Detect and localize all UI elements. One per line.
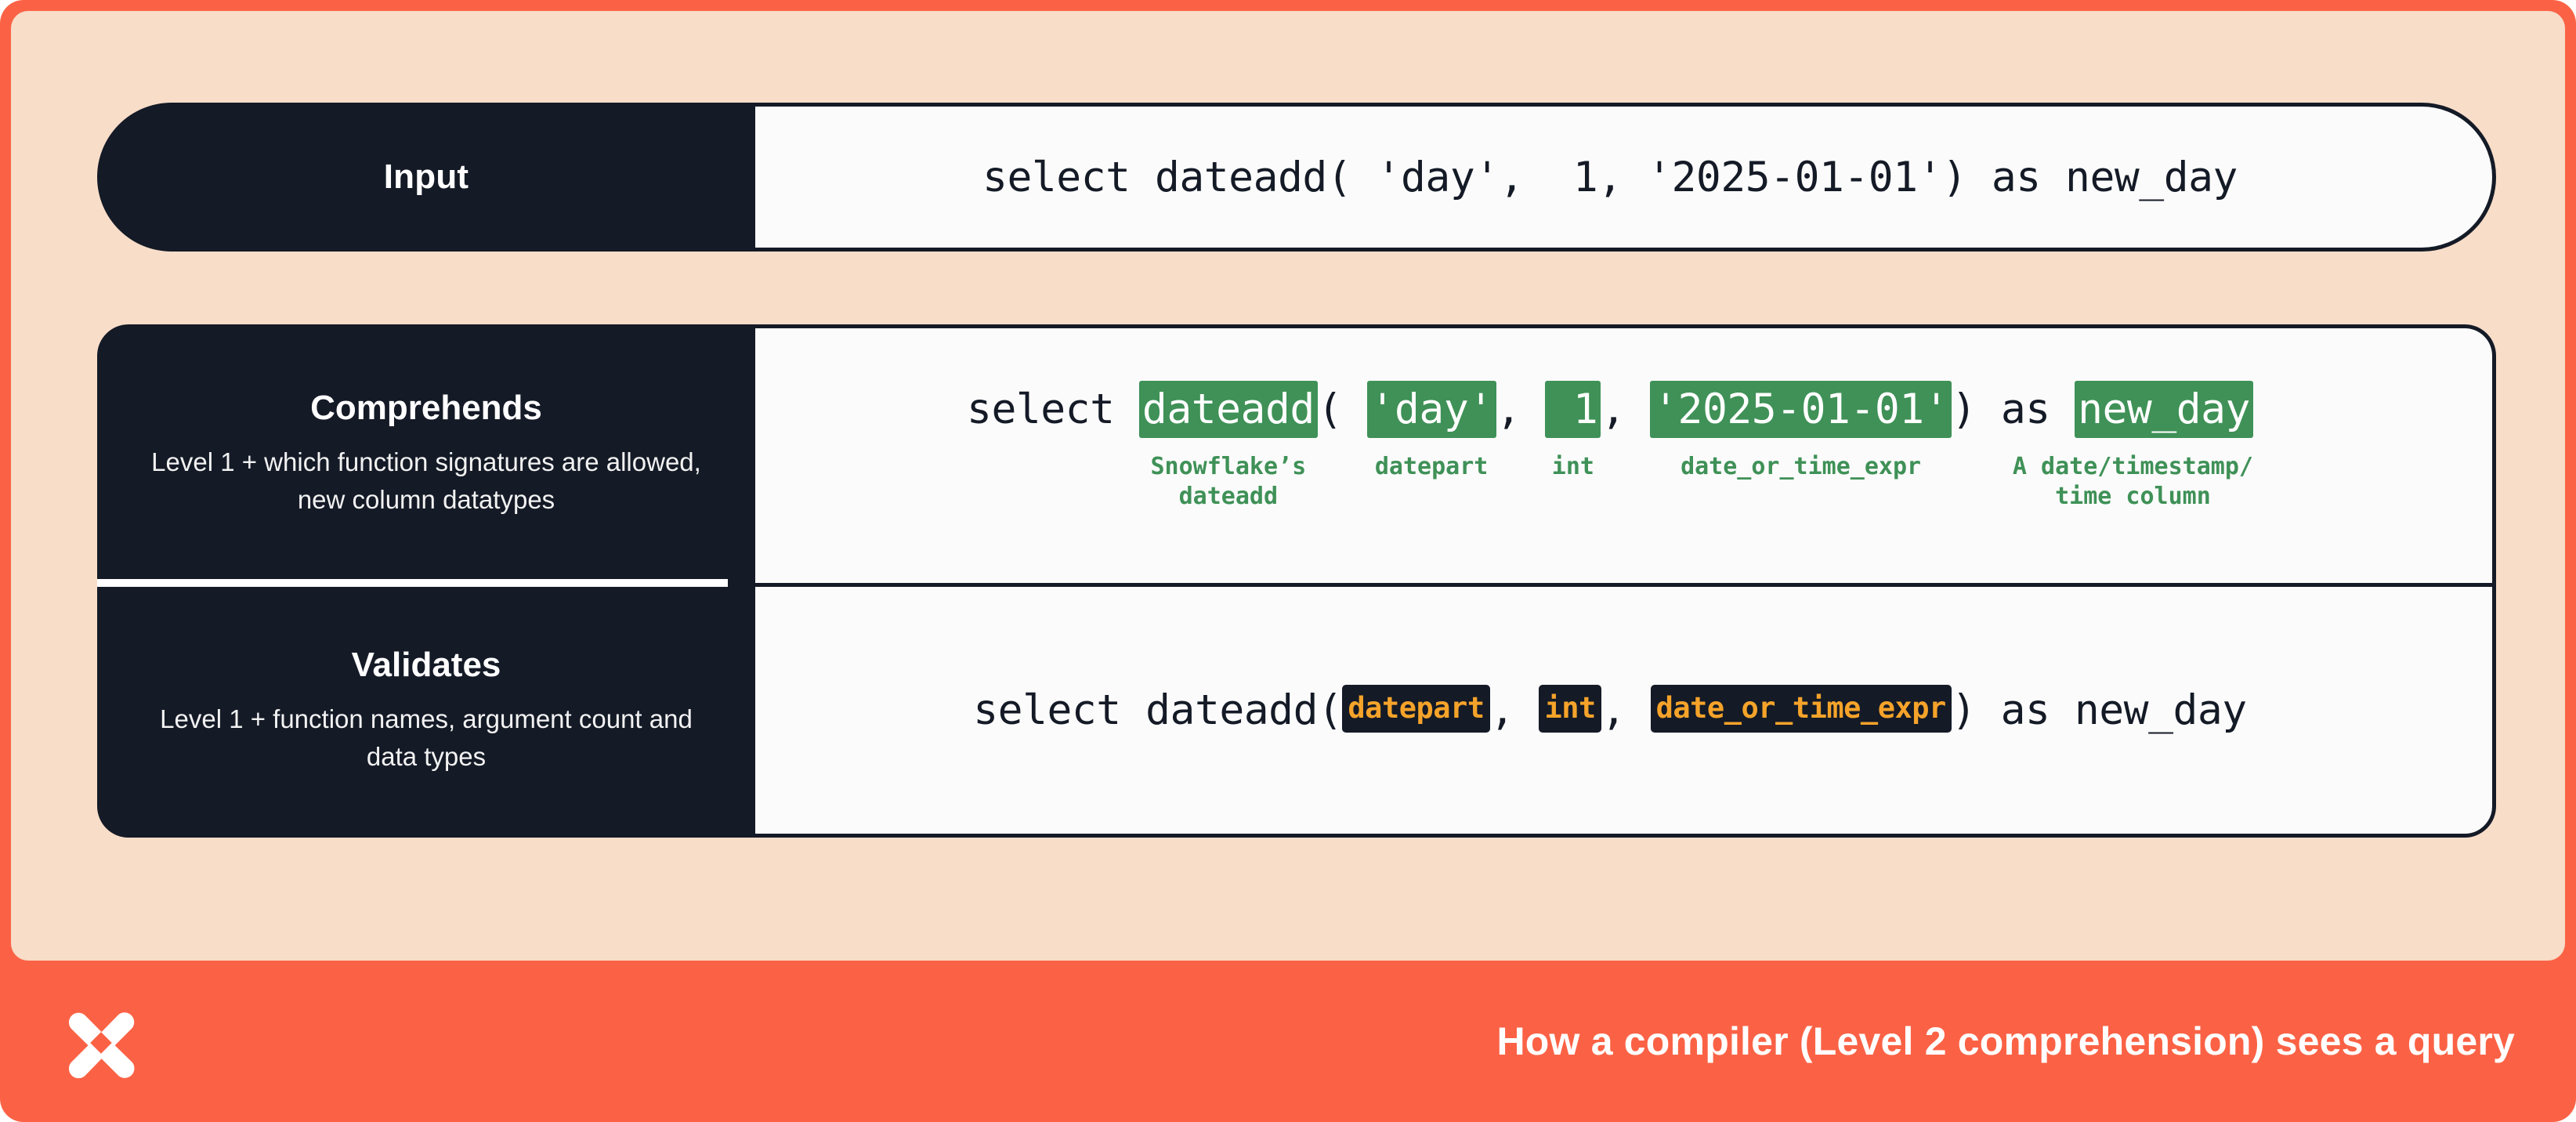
annotation-4: A date/timestamp/ time column — [2013, 452, 2253, 512]
code-highlight-9: new_day — [2075, 381, 2253, 438]
code-text-4: , — [1601, 686, 1651, 734]
code-text-8: ) as — [1952, 385, 2075, 433]
content-panel: Input select dateadd( 'day', 1, '2025-01… — [11, 11, 2565, 961]
code-token-3: int — [1539, 685, 1601, 733]
annotation-0: Snowflake’s dateadd — [1151, 452, 1307, 512]
code-highlight-7: '2025-01-01' — [1650, 381, 1952, 438]
code-token-5: date_or_time_expr — [1651, 685, 1952, 733]
comprehends-row-label-desc: Level 1 + which function signatures are … — [136, 443, 716, 519]
input-row-label: Input — [97, 103, 755, 252]
levels-stack: Comprehends Level 1 + which function sig… — [97, 324, 2496, 838]
validates-row-label-desc: Level 1 + function names, argument count… — [136, 700, 716, 776]
code-text-0: select dateadd( — [973, 686, 1342, 734]
validates-row-label-title: Validates — [352, 646, 501, 685]
input-row: Input select dateadd( 'day', 1, '2025-01… — [97, 103, 2496, 252]
footer-bar: How a compiler (Level 2 comprehension) s… — [0, 961, 2576, 1122]
code-text-6: , — [1601, 385, 1650, 433]
code-token-1: datepart — [1342, 685, 1489, 733]
x-star-logo-icon — [49, 990, 150, 1092]
annotation-2: int — [1552, 452, 1594, 482]
input-row-label-title: Input — [384, 157, 469, 197]
comprehends-row-code: select dateadd( 'day', 1, '2025-01-01') … — [967, 381, 2253, 438]
code-text-6: ) as new_day — [1952, 686, 2247, 734]
input-row-code: select dateadd( 'day', 1, '2025-01-01') … — [982, 154, 2238, 201]
code-text-2: , — [1490, 686, 1539, 734]
validates-row-code-panel: select dateadd(datepart, int, date_or_ti… — [724, 583, 2496, 838]
comprehends-annotation-row: Snowflake’s dateadddatepartintdate_or_ti… — [967, 452, 2253, 530]
comprehends-row-label-title: Comprehends — [310, 389, 542, 428]
comprehends-row: Comprehends Level 1 + which function sig… — [97, 324, 2496, 583]
comprehends-row-label: Comprehends Level 1 + which function sig… — [97, 324, 755, 583]
annotation-1: datepart — [1375, 452, 1489, 482]
row-divider — [97, 579, 728, 587]
validates-row-label: Validates Level 1 + function names, argu… — [97, 583, 755, 838]
validates-row: Validates Level 1 + function names, argu… — [97, 583, 2496, 838]
comprehends-row-code-panel: select dateadd( 'day', 1, '2025-01-01') … — [724, 324, 2496, 583]
code-highlight-3: 'day' — [1367, 381, 1496, 438]
code-highlight-1: dateadd — [1139, 381, 1318, 438]
poster-card: Input select dateadd( 'day', 1, '2025-01… — [0, 0, 2576, 1122]
validates-row-code: select dateadd(datepart, int, date_or_ti… — [973, 686, 2246, 734]
code-text-2: ( — [1318, 385, 1367, 433]
code-text-4: , — [1496, 385, 1546, 433]
footer-caption: How a compiler (Level 2 comprehension) s… — [1496, 1019, 2515, 1064]
annotation-3: date_or_time_expr — [1681, 452, 1921, 482]
code-highlight-5: 1 — [1545, 381, 1601, 438]
input-row-code-panel: select dateadd( 'day', 1, '2025-01-01') … — [724, 103, 2496, 252]
code-text-0: select — [967, 385, 1139, 433]
